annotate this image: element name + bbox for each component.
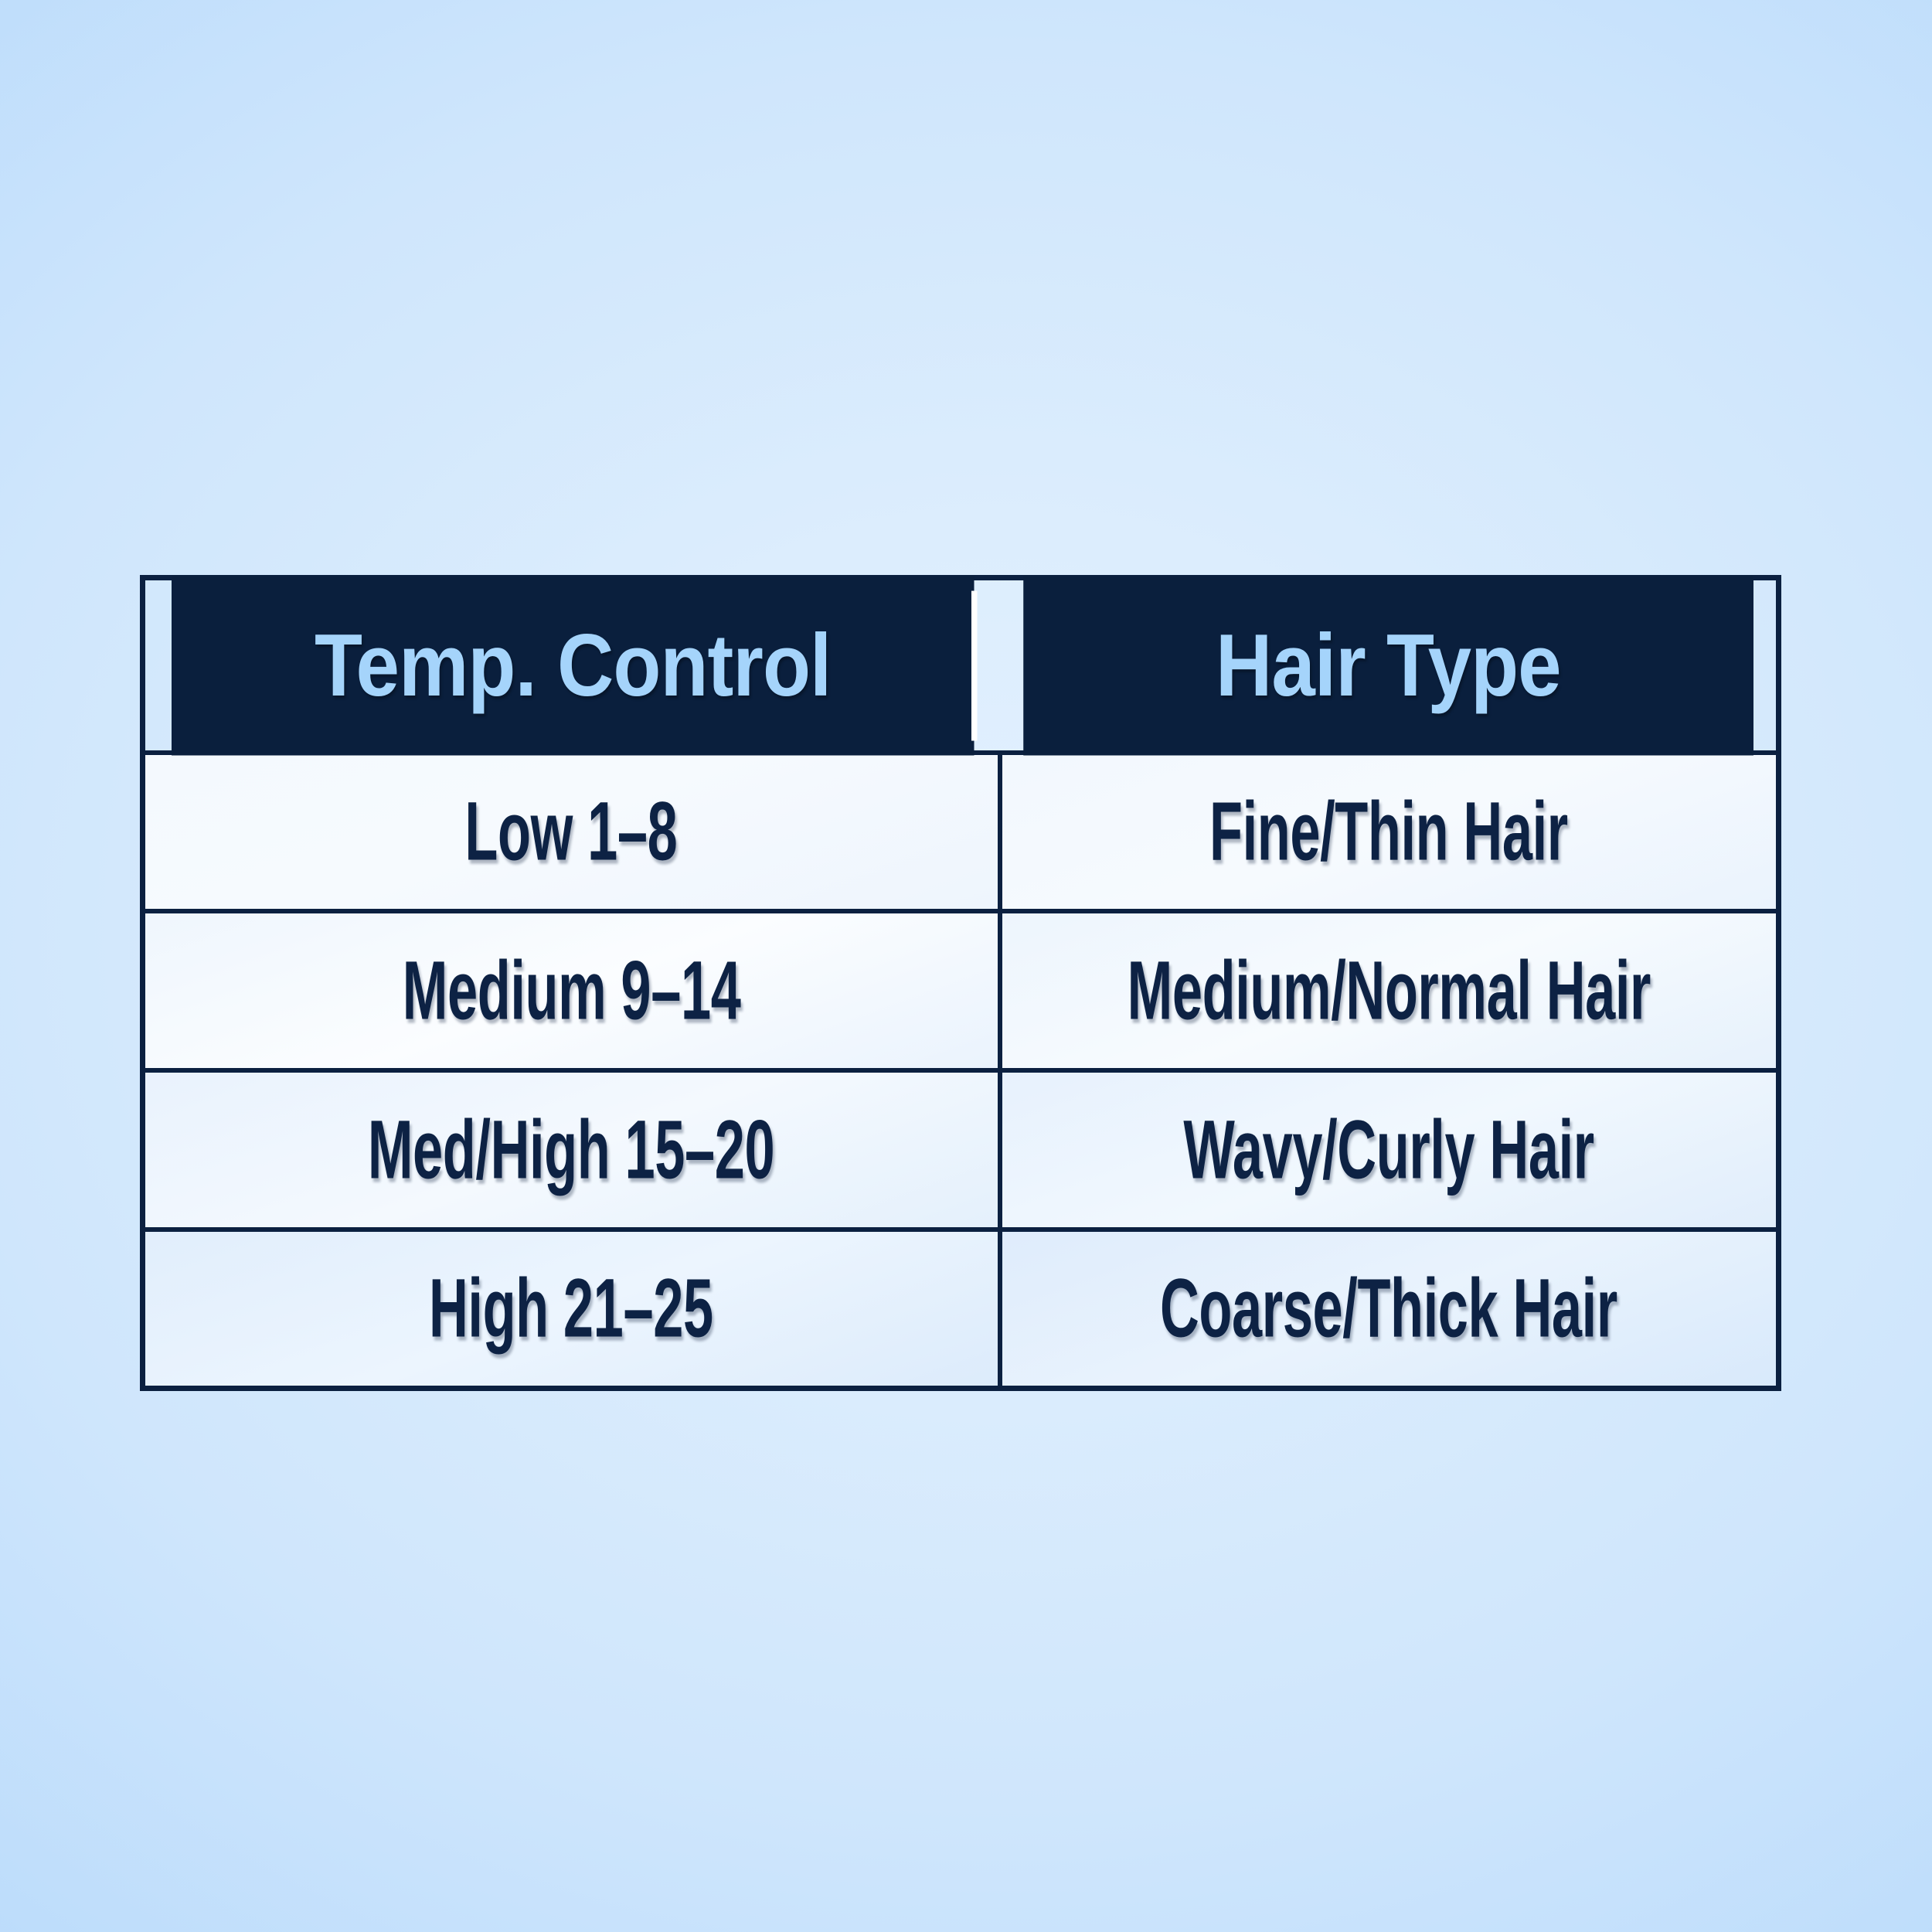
cell-hair-type: Wavy/Curly Hair [1000, 1070, 1779, 1230]
cell-temp-control: Medium 9–14 [143, 911, 1000, 1070]
cell-temp-control-value: Low 1–8 [465, 791, 678, 873]
cell-hair-type: Medium/Normal Hair [1000, 911, 1779, 1070]
cell-temp-control-value: Med/High 15–20 [368, 1108, 775, 1191]
cell-temp-control-value: High 21–25 [429, 1267, 713, 1350]
cell-temp-control: Low 1–8 [143, 753, 1000, 912]
cell-hair-type: Fine/Thin Hair [1000, 753, 1779, 912]
column-header-temp-control: Temp. Control [168, 573, 974, 758]
cell-hair-type-value: Coarse/Thick Hair [1160, 1267, 1617, 1350]
table-row: Med/High 15–20 Wavy/Curly Hair [143, 1070, 1779, 1230]
cell-temp-control: High 21–25 [143, 1230, 1000, 1389]
table-row: Medium 9–14 Medium/Normal Hair [143, 911, 1779, 1070]
comparison-table: Temp. Control Hair Type Low 1–8 Fine/Thi… [140, 575, 1781, 1391]
table-header: Temp. Control Hair Type [143, 578, 1779, 753]
table-row: High 21–25 Coarse/Thick Hair [143, 1230, 1779, 1389]
column-header-hair-type: Hair Type [1023, 573, 1756, 758]
temperature-hair-type-chart: Temp. Control Hair Type Low 1–8 Fine/Thi… [140, 575, 1776, 1391]
cell-hair-type-value: Wavy/Curly Hair [1184, 1108, 1594, 1191]
table-header-row: Temp. Control Hair Type [143, 578, 1779, 753]
cell-hair-type: Coarse/Thick Hair [1000, 1230, 1779, 1389]
table-row: Low 1–8 Fine/Thin Hair [143, 753, 1779, 912]
cell-temp-control: Med/High 15–20 [143, 1070, 1000, 1230]
cell-hair-type-value: Fine/Thin Hair [1209, 791, 1568, 873]
cell-hair-type-value: Medium/Normal Hair [1128, 949, 1651, 1032]
column-header-hair-type-label: Hair Type [1023, 621, 1753, 709]
table-body: Low 1–8 Fine/Thin Hair Medium 9–14 Mediu… [143, 753, 1779, 1389]
page-background: Temp. Control Hair Type Low 1–8 Fine/Thi… [0, 0, 1932, 1932]
cell-temp-control-value: Medium 9–14 [402, 949, 740, 1032]
column-header-temp-control-label: Temp. Control [171, 621, 974, 709]
